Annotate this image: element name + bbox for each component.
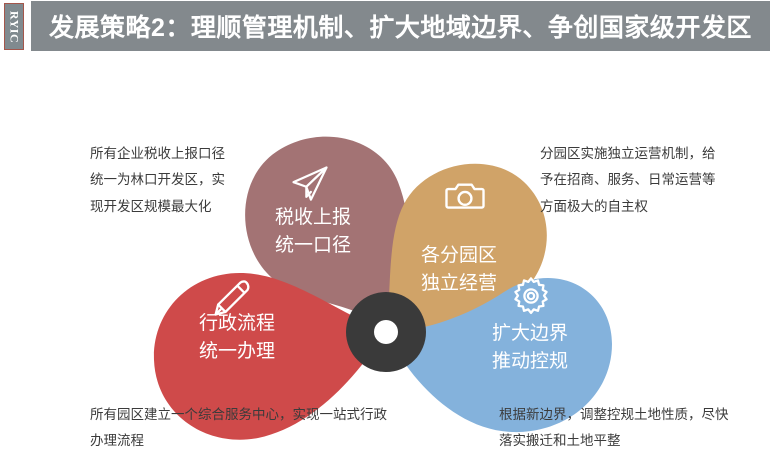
slide-header: RYIC 发展策略2：理顺管理机制、扩大地域边界、争创国家级开发区	[0, 0, 770, 52]
note-bottom-right: 根据新边界，调整控规土地性质，尽快落实搬迁和土地平整	[499, 402, 739, 455]
gear-icon	[509, 274, 553, 318]
note-bottom-left: 所有园区建立一个综合服务中心，实现一站式行政办理流程	[90, 402, 390, 455]
note-top-left: 所有企业税收上报口径统一为林口开发区，实现开发区规模最大化	[90, 141, 226, 220]
title-bar: 发展策略2：理顺管理机制、扩大地域边界、争创国家级开发区	[31, 1, 770, 51]
pencil-icon	[209, 276, 253, 320]
brand-badge: RYIC	[4, 3, 24, 50]
note-top-right: 分园区实施独立运营机制，给予在招商、服务、日常运营等方面极大的自主权	[540, 141, 722, 220]
camera-icon	[443, 174, 487, 218]
page-title: 发展策略2：理顺管理机制、扩大地域边界、争创国家级开发区	[49, 8, 752, 44]
hub-inner-circle	[374, 320, 398, 344]
pinwheel-diagram: 税收上报 统一口径 各分园区 独立经营 行政流程 统一办理 扩大边界 推动控规 …	[0, 52, 770, 470]
paper-plane-icon	[288, 162, 332, 206]
brand-badge-label: RYIC	[7, 10, 22, 42]
